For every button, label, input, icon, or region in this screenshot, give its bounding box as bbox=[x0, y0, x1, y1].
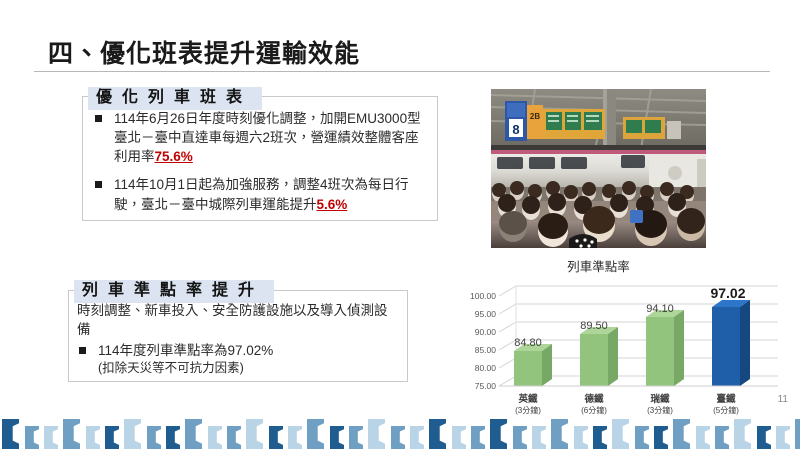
rail-tie-icon bbox=[391, 426, 405, 449]
rail-tie-icon bbox=[105, 426, 119, 449]
rail-tie-icon bbox=[776, 426, 790, 449]
bar-value-label: 89.50 bbox=[580, 320, 608, 332]
rail-tie-icon bbox=[452, 426, 466, 449]
panel-punctuality: 時刻調整、新車投入、安全防護設施以及導入偵測設備 114年度列車準點率為97.0… bbox=[68, 290, 408, 382]
rail-tie-icon bbox=[410, 426, 424, 449]
svg-text:2B: 2B bbox=[530, 112, 540, 121]
rail-tie-icon bbox=[715, 426, 729, 449]
ytick-label: 75.00 bbox=[475, 381, 497, 391]
bullet-list-punctuality: 114年度列車準點率為97.02% bbox=[77, 341, 399, 360]
rail-tie-icon bbox=[490, 419, 507, 449]
rail-tie-icon bbox=[269, 426, 283, 449]
crowded-train-platform-photo: 8 2B bbox=[491, 89, 706, 248]
rail-tie-icon bbox=[246, 419, 263, 449]
rail-tie-icon bbox=[208, 426, 222, 449]
list-item: 114年度列車準點率為97.02% bbox=[77, 341, 399, 360]
page-title: 四、優化班表提升運輸效能 bbox=[48, 34, 360, 70]
rail-tie-icon bbox=[227, 426, 241, 449]
bullet-list-schedule: 114年6月26日年度時刻優化調整，加開EMU3000型臺北－臺中直達車每週六2… bbox=[93, 109, 429, 214]
panel-punctuality-body: 時刻調整、新車投入、安全防護設施以及導入偵測設備 114年度列車準點率為97.0… bbox=[69, 291, 407, 377]
bar-value-label: 84.80 bbox=[514, 337, 542, 349]
panel-optimized-schedule-body: 114年6月26日年度時刻優化調整，加開EMU3000型臺北－臺中直達車每週六2… bbox=[83, 97, 437, 214]
rail-tie-icon bbox=[166, 426, 180, 449]
rail-track-decoration bbox=[0, 407, 800, 449]
ytick-label: 100.00 bbox=[470, 291, 496, 301]
rail-tie-icon bbox=[551, 419, 568, 449]
chart-title: 列車準點率 bbox=[491, 256, 706, 275]
rail-tie-icon bbox=[574, 426, 588, 449]
ytick-label: 85.00 bbox=[475, 345, 497, 355]
rail-tie-icon bbox=[696, 426, 710, 449]
bar-value-label: 97.02 bbox=[710, 285, 745, 301]
rail-tie-icon bbox=[124, 419, 141, 449]
bar-group: 89.50 bbox=[580, 320, 618, 386]
bar-group: 84.80 bbox=[514, 337, 552, 386]
ytick-label: 80.00 bbox=[475, 363, 497, 373]
bullet-text: 114年度列車準點率為97.02% bbox=[98, 343, 273, 358]
rail-tie-icon bbox=[471, 426, 485, 449]
rail-tie-icon bbox=[429, 419, 446, 449]
list-item: 114年10月1日起為加強服務，調整4班次為每日行駛，臺北－臺中城際列車運能提升… bbox=[93, 175, 429, 213]
rail-tie-icon bbox=[185, 419, 202, 449]
xtick-label: 德鐵 bbox=[584, 393, 604, 405]
rail-tie-icon bbox=[25, 426, 39, 449]
panel-optimized-schedule: 114年6月26日年度時刻優化調整，加開EMU3000型臺北－臺中直達車每週六2… bbox=[82, 96, 438, 221]
bar-value-label: 94.10 bbox=[646, 303, 674, 315]
rail-tie-icon bbox=[368, 419, 385, 449]
punctuality-bar-chart: 100.00 95.00 90.00 85.00 80.00 75.00 84.… bbox=[456, 278, 786, 418]
rail-tie-icon bbox=[635, 426, 649, 449]
list-item: 114年6月26日年度時刻優化調整，加開EMU3000型臺北－臺中直達車每週六2… bbox=[93, 109, 429, 166]
xtick-label: 瑞鐵 bbox=[650, 393, 670, 405]
rail-tie-icon bbox=[86, 426, 100, 449]
rail-tie-icon bbox=[757, 426, 771, 449]
rail-tie-icon bbox=[147, 426, 161, 449]
rail-tie-icon bbox=[593, 426, 607, 449]
panel-optimized-schedule-heading: 優化列車班表 bbox=[88, 87, 262, 110]
rail-tie-icon bbox=[44, 426, 58, 449]
rail-tie-icon bbox=[673, 419, 690, 449]
rail-tie-icon bbox=[2, 419, 19, 449]
xtick-label: 臺鐵 bbox=[716, 393, 736, 405]
panel-punctuality-heading: 列車準點率提升 bbox=[74, 280, 274, 303]
ytick-label: 95.00 bbox=[475, 309, 497, 319]
ytick-label: 90.00 bbox=[475, 327, 497, 337]
rail-tie-icon bbox=[330, 426, 344, 449]
rail-tie-icon bbox=[532, 426, 546, 449]
rail-tie-icon bbox=[795, 419, 800, 449]
page-number: 11 bbox=[778, 394, 788, 405]
xtick-label: 英鐵 bbox=[518, 393, 538, 405]
highlight-value: 5.6% bbox=[317, 197, 348, 212]
punctuality-intro-text: 時刻調整、新車投入、安全防護設施以及導入偵測設備 bbox=[77, 302, 399, 340]
rail-tie-icon bbox=[612, 419, 629, 449]
rail-tie-icon bbox=[734, 419, 751, 449]
rail-tie-icon bbox=[63, 419, 80, 449]
punctuality-note: (扣除天災等不可抗力因素) bbox=[77, 360, 399, 377]
svg-text:8: 8 bbox=[512, 122, 519, 137]
rail-tie-icon bbox=[288, 426, 302, 449]
bar-group: 94.10 bbox=[646, 303, 684, 386]
rail-tie-icon bbox=[307, 419, 324, 449]
rail-tie-icon bbox=[513, 426, 527, 449]
rail-tie-icon bbox=[654, 426, 668, 449]
highlight-value: 75.6% bbox=[155, 149, 193, 164]
bar-group-highlight: 97.02 bbox=[710, 285, 750, 386]
rail-tie-icon bbox=[349, 426, 363, 449]
bullet-text: 114年10月1日起為加強服務，調整4班次為每日行駛，臺北－臺中城際列車運能提升 bbox=[114, 177, 409, 211]
title-divider bbox=[34, 71, 770, 72]
